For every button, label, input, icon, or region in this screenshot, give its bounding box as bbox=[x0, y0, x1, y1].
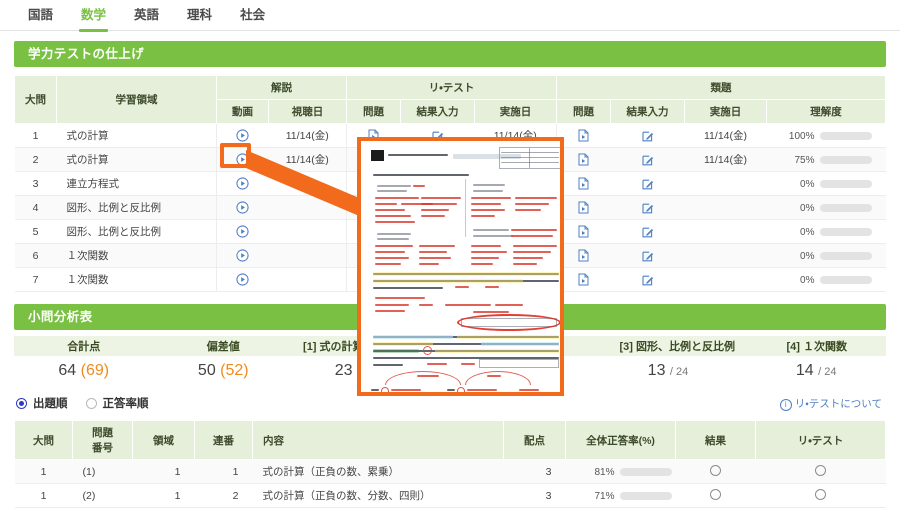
progress-track bbox=[820, 276, 872, 284]
score-main: 50 bbox=[198, 362, 216, 379]
play-circle-icon[interactable] bbox=[236, 129, 250, 143]
th-ruidai-mondai: 問題 bbox=[557, 100, 611, 124]
cell-daimon: 2 bbox=[15, 148, 57, 172]
play-circle-icon[interactable] bbox=[236, 273, 250, 287]
section-title-test-finish: 学力テストの仕上げ bbox=[14, 41, 886, 67]
score-main: 14 bbox=[796, 362, 814, 379]
radio-dot bbox=[86, 398, 97, 409]
document-icon[interactable] bbox=[577, 201, 591, 215]
edit-pencil-icon[interactable] bbox=[641, 225, 655, 239]
cell-ruidai-jisshibi: 11/14(金) bbox=[685, 148, 767, 172]
cell-ruidai-kekka[interactable] bbox=[611, 172, 685, 196]
progress-track bbox=[820, 252, 872, 260]
th-retest-mondai: 問題 bbox=[347, 100, 401, 124]
th-ruidai-kekka: 結果入力 bbox=[611, 100, 685, 124]
cell-s3-retest[interactable] bbox=[756, 460, 886, 484]
score-col-value: 50 (52) bbox=[154, 362, 294, 380]
progress-value: 0% bbox=[788, 203, 815, 214]
retest-info-label: リ・テストについて bbox=[795, 398, 882, 410]
cell-kaisetsu-shichoubi bbox=[269, 172, 347, 196]
radio-shutsudaijun[interactable]: 出題順 bbox=[16, 395, 68, 411]
score-col-header: 偏差値 bbox=[154, 338, 294, 354]
empty-circle-icon[interactable] bbox=[710, 465, 721, 476]
tab-rika[interactable]: 理科 bbox=[173, 0, 226, 30]
tab-active-underline bbox=[79, 29, 108, 32]
info-circle-icon: i bbox=[780, 399, 792, 411]
tab-shakai[interactable]: 社会 bbox=[226, 0, 279, 30]
score-denominator: / 24 bbox=[818, 366, 836, 378]
shoumon-table-body: 1(1)11式の計算（正負の数、累乗）381%1(2)12式の計算（正負の数、分… bbox=[15, 460, 886, 508]
tab-kokugo[interactable]: 国語 bbox=[14, 0, 67, 30]
cell-ruidai-mondai[interactable] bbox=[557, 244, 611, 268]
cell-ruidai-mondai[interactable] bbox=[557, 124, 611, 148]
cell-ruidai-mondai[interactable] bbox=[557, 196, 611, 220]
th-retest-kekka: 結果入力 bbox=[401, 100, 475, 124]
cell-gakushu-ryouiki: １次関数 bbox=[57, 244, 217, 268]
th-group-ruidai: 類題 bbox=[557, 76, 886, 100]
worksheet-preview-popup[interactable] bbox=[357, 137, 564, 396]
th-s3-zentai: 全体正答率(%) bbox=[566, 421, 676, 460]
cell-s3-haiten: 3 bbox=[504, 460, 566, 484]
cell-s3-retest[interactable] bbox=[756, 484, 886, 508]
score-paren: (69) bbox=[81, 362, 109, 379]
cell-ruidai-jisshibi bbox=[685, 220, 767, 244]
score-col-header: [4] １次関数 bbox=[776, 338, 900, 354]
th-rikaido: 理解度 bbox=[767, 100, 886, 124]
cell-kaisetsu-douga[interactable] bbox=[217, 172, 269, 196]
sort-order-radio-group: 出題順 正答率順 iリ・テストについて bbox=[16, 394, 886, 412]
cell-ruidai-mondai[interactable] bbox=[557, 148, 611, 172]
understanding-progress: 0% bbox=[771, 251, 872, 262]
th-ruidai-jisshibi: 実施日 bbox=[685, 100, 767, 124]
edit-pencil-icon[interactable] bbox=[641, 201, 655, 215]
score-main: 13 bbox=[648, 362, 666, 379]
tab-eigo[interactable]: 英語 bbox=[120, 0, 173, 30]
cell-kaisetsu-shichoubi bbox=[269, 220, 347, 244]
th-group-kaisetsu: 解説 bbox=[217, 76, 347, 100]
cell-rikaido: 0% bbox=[767, 220, 886, 244]
cell-ruidai-jisshibi bbox=[685, 244, 767, 268]
progress-value: 0% bbox=[788, 179, 815, 190]
cell-kaisetsu-douga[interactable] bbox=[217, 220, 269, 244]
shoumon-table-wrap: 大問 問題 番号 領域 連番 内容 配点 全体正答率(%) 結果 リ・テスト 1… bbox=[14, 420, 886, 508]
th-s3-mondai-bangou: 問題 番号 bbox=[73, 421, 133, 460]
play-circle-icon[interactable] bbox=[236, 249, 250, 263]
cell-ruidai-kekka[interactable] bbox=[611, 220, 685, 244]
cell-kaisetsu-douga[interactable] bbox=[217, 244, 269, 268]
th-line2: 番号 bbox=[92, 442, 113, 454]
radio-label: 出題順 bbox=[33, 395, 68, 411]
th-shichoubi: 視聴日 bbox=[269, 100, 347, 124]
document-icon[interactable] bbox=[577, 153, 591, 167]
progress-value: 75% bbox=[788, 155, 815, 166]
cell-s3-naiyou: 式の計算（正負の数、累乗） bbox=[253, 460, 504, 484]
score-col-value: 14 / 24 bbox=[746, 362, 886, 380]
cell-s3-kekka[interactable] bbox=[676, 484, 756, 508]
th-s3-haiten: 配点 bbox=[504, 421, 566, 460]
th-s3-ryouiki: 領域 bbox=[133, 421, 195, 460]
th-daimon: 大問 bbox=[15, 76, 57, 124]
cell-daimon: 1 bbox=[15, 124, 57, 148]
cell-ruidai-jisshibi bbox=[685, 196, 767, 220]
understanding-progress: 0% bbox=[771, 275, 872, 286]
radio-dot bbox=[16, 398, 27, 409]
cell-ruidai-kekka[interactable] bbox=[611, 268, 685, 292]
table-row: 1(1)11式の計算（正負の数、累乗）381% bbox=[15, 460, 886, 484]
cell-gakushu-ryouiki: 式の計算 bbox=[57, 124, 217, 148]
cell-s3-bangou: (2) bbox=[73, 484, 133, 508]
score-paren: (52) bbox=[220, 362, 248, 379]
th-retest-jisshibi: 実施日 bbox=[475, 100, 557, 124]
progress-track bbox=[820, 132, 872, 140]
cell-ruidai-jisshibi bbox=[685, 268, 767, 292]
progress-track bbox=[820, 156, 872, 164]
edit-pencil-icon[interactable] bbox=[641, 273, 655, 287]
cell-s3-seitouritsu: 81% bbox=[566, 460, 676, 484]
cell-gakushu-ryouiki: 図形、比例と反比例 bbox=[57, 196, 217, 220]
cell-s3-seitouritsu: 71% bbox=[566, 484, 676, 508]
cell-rikaido: 100% bbox=[767, 124, 886, 148]
tab-sugaku[interactable]: 数学 bbox=[67, 0, 120, 30]
cell-s3-daimon: 1 bbox=[15, 460, 73, 484]
cell-ruidai-jisshibi: 11/14(金) bbox=[685, 124, 767, 148]
cell-gakushu-ryouiki: 図形、比例と反比例 bbox=[57, 220, 217, 244]
score-main: 64 bbox=[58, 362, 76, 379]
progress-track bbox=[820, 180, 872, 188]
cell-gakushu-ryouiki: 式の計算 bbox=[57, 148, 217, 172]
progress-value: 100% bbox=[788, 131, 815, 142]
progress-value: 0% bbox=[788, 251, 815, 262]
score-denominator: / 24 bbox=[670, 366, 688, 378]
progress-value: 81% bbox=[588, 467, 615, 478]
cell-kaisetsu-shichoubi bbox=[269, 268, 347, 292]
subject-tabs: 国語 数学 英語 理科 社会 bbox=[14, 0, 886, 30]
cell-kaisetsu-shichoubi bbox=[269, 196, 347, 220]
th-s3-renban: 連番 bbox=[195, 421, 253, 460]
th-s3-kekka: 結果 bbox=[676, 421, 756, 460]
score-col-value: 64 (69) bbox=[14, 362, 154, 380]
radio-label: 正答率順 bbox=[103, 395, 149, 411]
edit-pencil-icon[interactable] bbox=[641, 177, 655, 191]
cell-rikaido: 0% bbox=[767, 196, 886, 220]
understanding-progress-rate: 81% bbox=[572, 467, 672, 478]
play-circle-icon[interactable] bbox=[236, 201, 250, 215]
tab-label: 数学 bbox=[81, 8, 106, 22]
empty-circle-icon[interactable] bbox=[710, 489, 721, 500]
cell-daimon: 4 bbox=[15, 196, 57, 220]
subject-tabbar: 国語 数学 英語 理科 社会 bbox=[0, 0, 900, 31]
cell-s3-bangou: (1) bbox=[73, 460, 133, 484]
worksheet-header-mark bbox=[371, 150, 384, 161]
th-douga: 動画 bbox=[217, 100, 269, 124]
cell-daimon: 6 bbox=[15, 244, 57, 268]
progress-value: 71% bbox=[588, 491, 615, 502]
score-main: 23 bbox=[335, 362, 353, 379]
cell-ruidai-kekka[interactable] bbox=[611, 196, 685, 220]
edit-pencil-icon[interactable] bbox=[641, 249, 655, 263]
play-circle-icon[interactable] bbox=[236, 225, 250, 239]
th-line1: 問題 bbox=[92, 427, 113, 439]
th-s3-retest: リ・テスト bbox=[756, 421, 886, 460]
cell-ruidai-mondai[interactable] bbox=[557, 268, 611, 292]
understanding-progress-rate: 71% bbox=[572, 491, 672, 502]
radio-seitouritsujun[interactable]: 正答率順 bbox=[86, 395, 149, 411]
highlighted-play-icon-box[interactable] bbox=[220, 143, 251, 168]
cell-gakushu-ryouiki: １次関数 bbox=[57, 268, 217, 292]
th-s3-naiyou: 内容 bbox=[253, 421, 504, 460]
tab-label: 英語 bbox=[134, 8, 159, 22]
page-root: 国語 数学 英語 理科 社会 学力テストの仕上げ 大問 学習領域 解説 リ・テス… bbox=[0, 0, 900, 416]
cell-rikaido: 75% bbox=[767, 148, 886, 172]
understanding-progress: 75% bbox=[771, 155, 872, 166]
cell-kaisetsu-shichoubi: 11/14(金) bbox=[269, 148, 347, 172]
tab-label: 社会 bbox=[240, 8, 265, 22]
retest-info-link[interactable]: iリ・テストについて bbox=[780, 396, 882, 411]
understanding-progress: 0% bbox=[771, 227, 872, 238]
score-col-header: 合計点 bbox=[14, 338, 154, 354]
cell-s3-ryouiki: 1 bbox=[133, 460, 195, 484]
cell-rikaido: 0% bbox=[767, 172, 886, 196]
cell-s3-renban: 2 bbox=[195, 484, 253, 508]
cell-kaisetsu-shichoubi: 11/14(金) bbox=[269, 124, 347, 148]
cell-rikaido: 0% bbox=[767, 244, 886, 268]
progress-track bbox=[820, 204, 872, 212]
document-icon[interactable] bbox=[577, 129, 591, 143]
score-col-value: 13 / 24 bbox=[590, 362, 747, 380]
table-group-header-row: 大問 学習領域 解説 リ・テスト 類題 bbox=[15, 76, 886, 100]
cell-daimon: 3 bbox=[15, 172, 57, 196]
document-icon[interactable] bbox=[577, 225, 591, 239]
understanding-progress: 0% bbox=[771, 203, 872, 214]
cell-s3-renban: 1 bbox=[195, 460, 253, 484]
progress-value: 0% bbox=[788, 275, 815, 286]
cell-s3-daimon: 1 bbox=[15, 484, 73, 508]
understanding-progress: 100% bbox=[771, 131, 872, 142]
document-icon[interactable] bbox=[577, 273, 591, 287]
score-col-header: [3] 図形、比例と反比例 bbox=[610, 338, 777, 354]
play-circle-icon[interactable] bbox=[236, 177, 250, 191]
cell-s3-naiyou: 式の計算（正負の数、分数、四則） bbox=[253, 484, 504, 508]
shoumon-header-row: 大問 問題 番号 領域 連番 内容 配点 全体正答率(%) 結果 リ・テスト bbox=[15, 421, 886, 460]
progress-track bbox=[620, 492, 672, 500]
understanding-progress: 0% bbox=[771, 179, 872, 190]
cell-ruidai-mondai[interactable] bbox=[557, 220, 611, 244]
th-gakushu-ryouiki: 学習領域 bbox=[57, 76, 217, 124]
cell-gakushu-ryouiki: 連立方程式 bbox=[57, 172, 217, 196]
cell-daimon: 7 bbox=[15, 268, 57, 292]
cell-kaisetsu-douga[interactable] bbox=[217, 196, 269, 220]
edit-pencil-icon[interactable] bbox=[641, 153, 655, 167]
document-icon[interactable] bbox=[577, 249, 591, 263]
edit-pencil-icon[interactable] bbox=[641, 129, 655, 143]
cell-ruidai-kekka[interactable] bbox=[611, 244, 685, 268]
empty-circle-icon[interactable] bbox=[815, 489, 826, 500]
cell-rikaido: 0% bbox=[767, 268, 886, 292]
cell-ruidai-kekka[interactable] bbox=[611, 124, 685, 148]
progress-track bbox=[820, 228, 872, 236]
progress-track bbox=[620, 468, 672, 476]
cell-daimon: 5 bbox=[15, 220, 57, 244]
cell-ruidai-mondai[interactable] bbox=[557, 172, 611, 196]
cell-s3-ryouiki: 1 bbox=[133, 484, 195, 508]
cell-kaisetsu-shichoubi bbox=[269, 244, 347, 268]
th-s3-daimon: 大問 bbox=[15, 421, 73, 460]
worksheet-image bbox=[361, 141, 560, 392]
progress-value: 0% bbox=[788, 227, 815, 238]
cell-ruidai-jisshibi bbox=[685, 172, 767, 196]
shoumon-table: 大問 問題 番号 領域 連番 内容 配点 全体正答率(%) 結果 リ・テスト 1… bbox=[14, 420, 886, 508]
document-icon[interactable] bbox=[577, 177, 591, 191]
cell-ruidai-kekka[interactable] bbox=[611, 148, 685, 172]
tab-label: 国語 bbox=[28, 8, 53, 22]
tab-label: 理科 bbox=[187, 8, 212, 22]
empty-circle-icon[interactable] bbox=[815, 465, 826, 476]
th-group-retest: リ・テスト bbox=[347, 76, 557, 100]
cell-s3-kekka[interactable] bbox=[676, 460, 756, 484]
cell-kaisetsu-douga[interactable] bbox=[217, 268, 269, 292]
table-row: 1(2)12式の計算（正負の数、分数、四則）371% bbox=[15, 484, 886, 508]
cell-s3-haiten: 3 bbox=[504, 484, 566, 508]
